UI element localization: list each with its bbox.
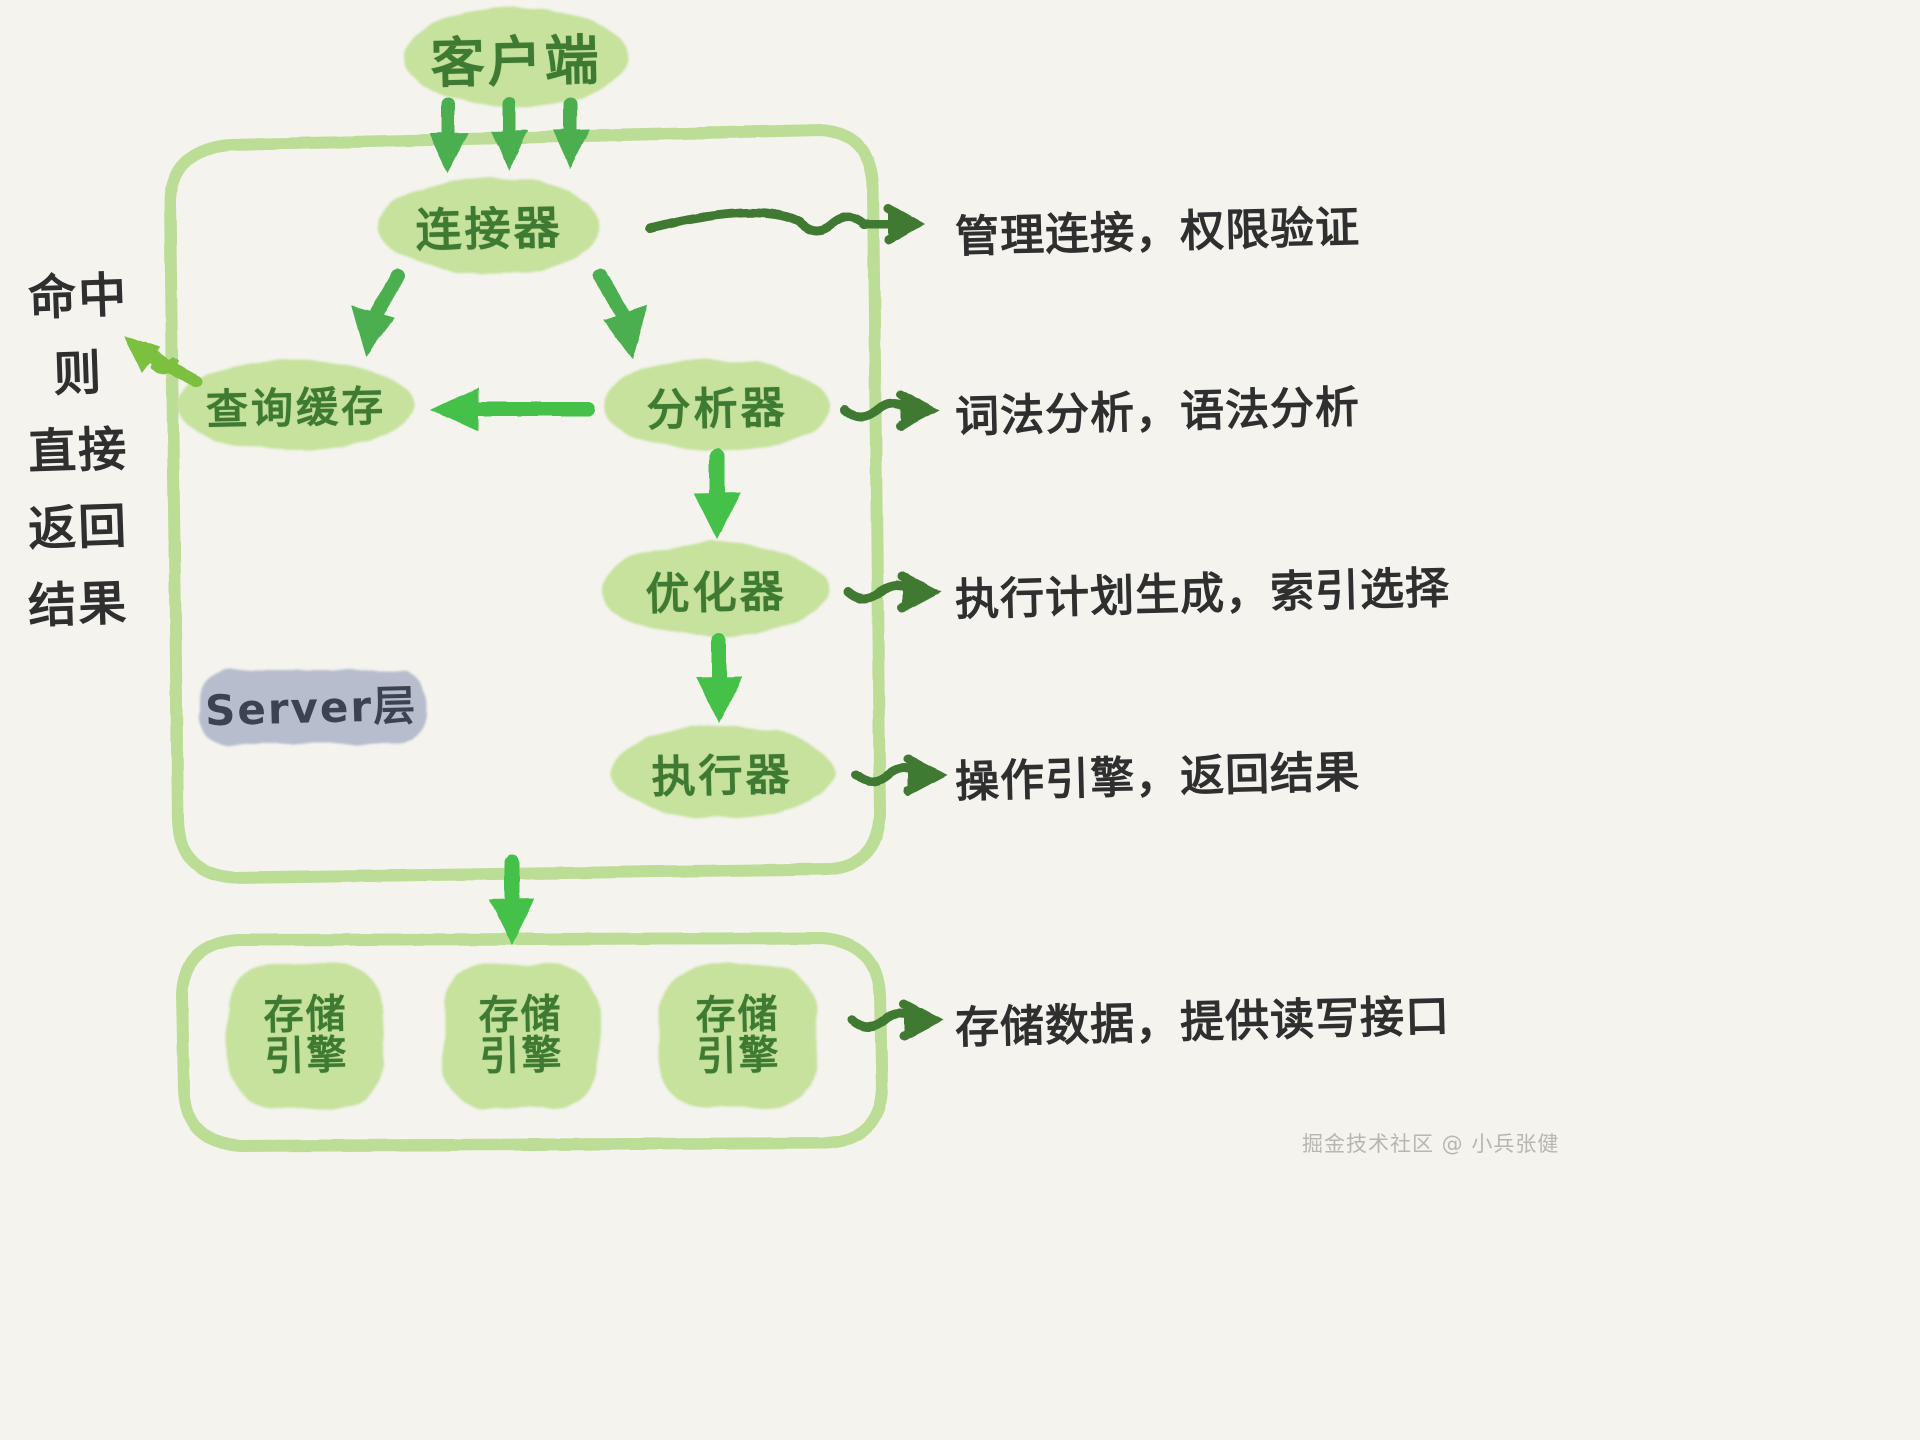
side-note-line-5: 结果	[27, 563, 129, 636]
node-executor-shape	[610, 726, 834, 818]
arrow-optimizer-to-executor	[697, 640, 742, 722]
side-note-line-1: 命中	[27, 255, 129, 328]
node-storage-engine-2-shape	[443, 964, 599, 1108]
side-note-line-2: 则	[52, 333, 104, 405]
server-layer-tag-label: Server层	[204, 672, 418, 739]
annotation-executor-note: 操作引擎，返回结果	[954, 736, 1360, 810]
diagram-canvas: 客户端 连接器 查询缓存 分析器 优化器 执行器 存储 引擎 存储 引擎 存储 …	[0, 0, 1920, 1440]
node-parser-shape	[604, 359, 830, 451]
pointer-parser	[845, 394, 930, 426]
side-note-line-3: 直接	[27, 409, 129, 482]
arrow-connector-to-query-cache	[352, 276, 398, 356]
watermark: 掘金技术社区 @ 小兵张健	[1302, 1128, 1559, 1158]
node-client-shape	[404, 7, 628, 107]
annotation-optimizer-note: 执行计划生成，索引选择	[954, 552, 1450, 628]
arrow-connector-to-parser	[600, 276, 647, 358]
node-storage-engine-1-shape	[228, 964, 384, 1108]
arrows-client-to-server	[430, 104, 589, 172]
arrow-cache-hit-return	[124, 336, 196, 382]
annotation-connector-note: 管理连接，权限验证	[954, 191, 1360, 265]
arrow-parser-to-optimizer	[695, 456, 740, 538]
pointer-optimizer	[848, 576, 932, 608]
annotation-parser-note: 词法分析，语法分析	[954, 371, 1360, 445]
node-query-cache-shape	[178, 360, 414, 450]
arrow-parser-to-query-cache	[432, 388, 588, 431]
side-note-line-4: 返回	[27, 486, 129, 559]
pointer-executor	[856, 759, 938, 791]
node-storage-engine-3-shape	[660, 964, 816, 1108]
node-optimizer-shape	[602, 543, 830, 635]
pointer-storage	[852, 1004, 934, 1036]
node-connector-shape	[377, 178, 601, 274]
annotation-storage-note: 存储数据，提供读写接口	[954, 980, 1450, 1056]
